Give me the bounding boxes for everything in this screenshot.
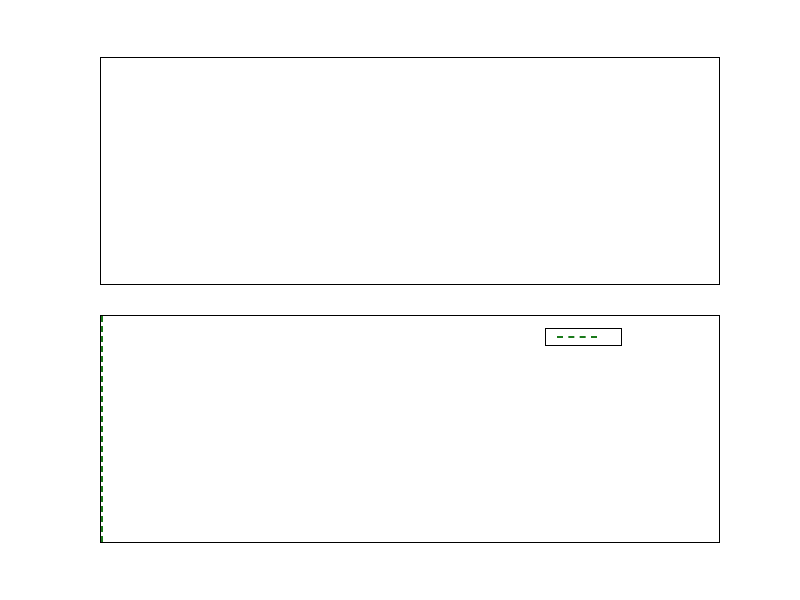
mag-limit-legend-swatch [557,336,597,338]
cumulative-curve [101,316,719,542]
figure-canvas [0,0,800,600]
mag-limit-vline [101,316,103,542]
cumulative-histogram-axes [100,315,720,543]
differential-histogram-axes [100,57,720,285]
legend-box[interactable] [545,328,622,346]
